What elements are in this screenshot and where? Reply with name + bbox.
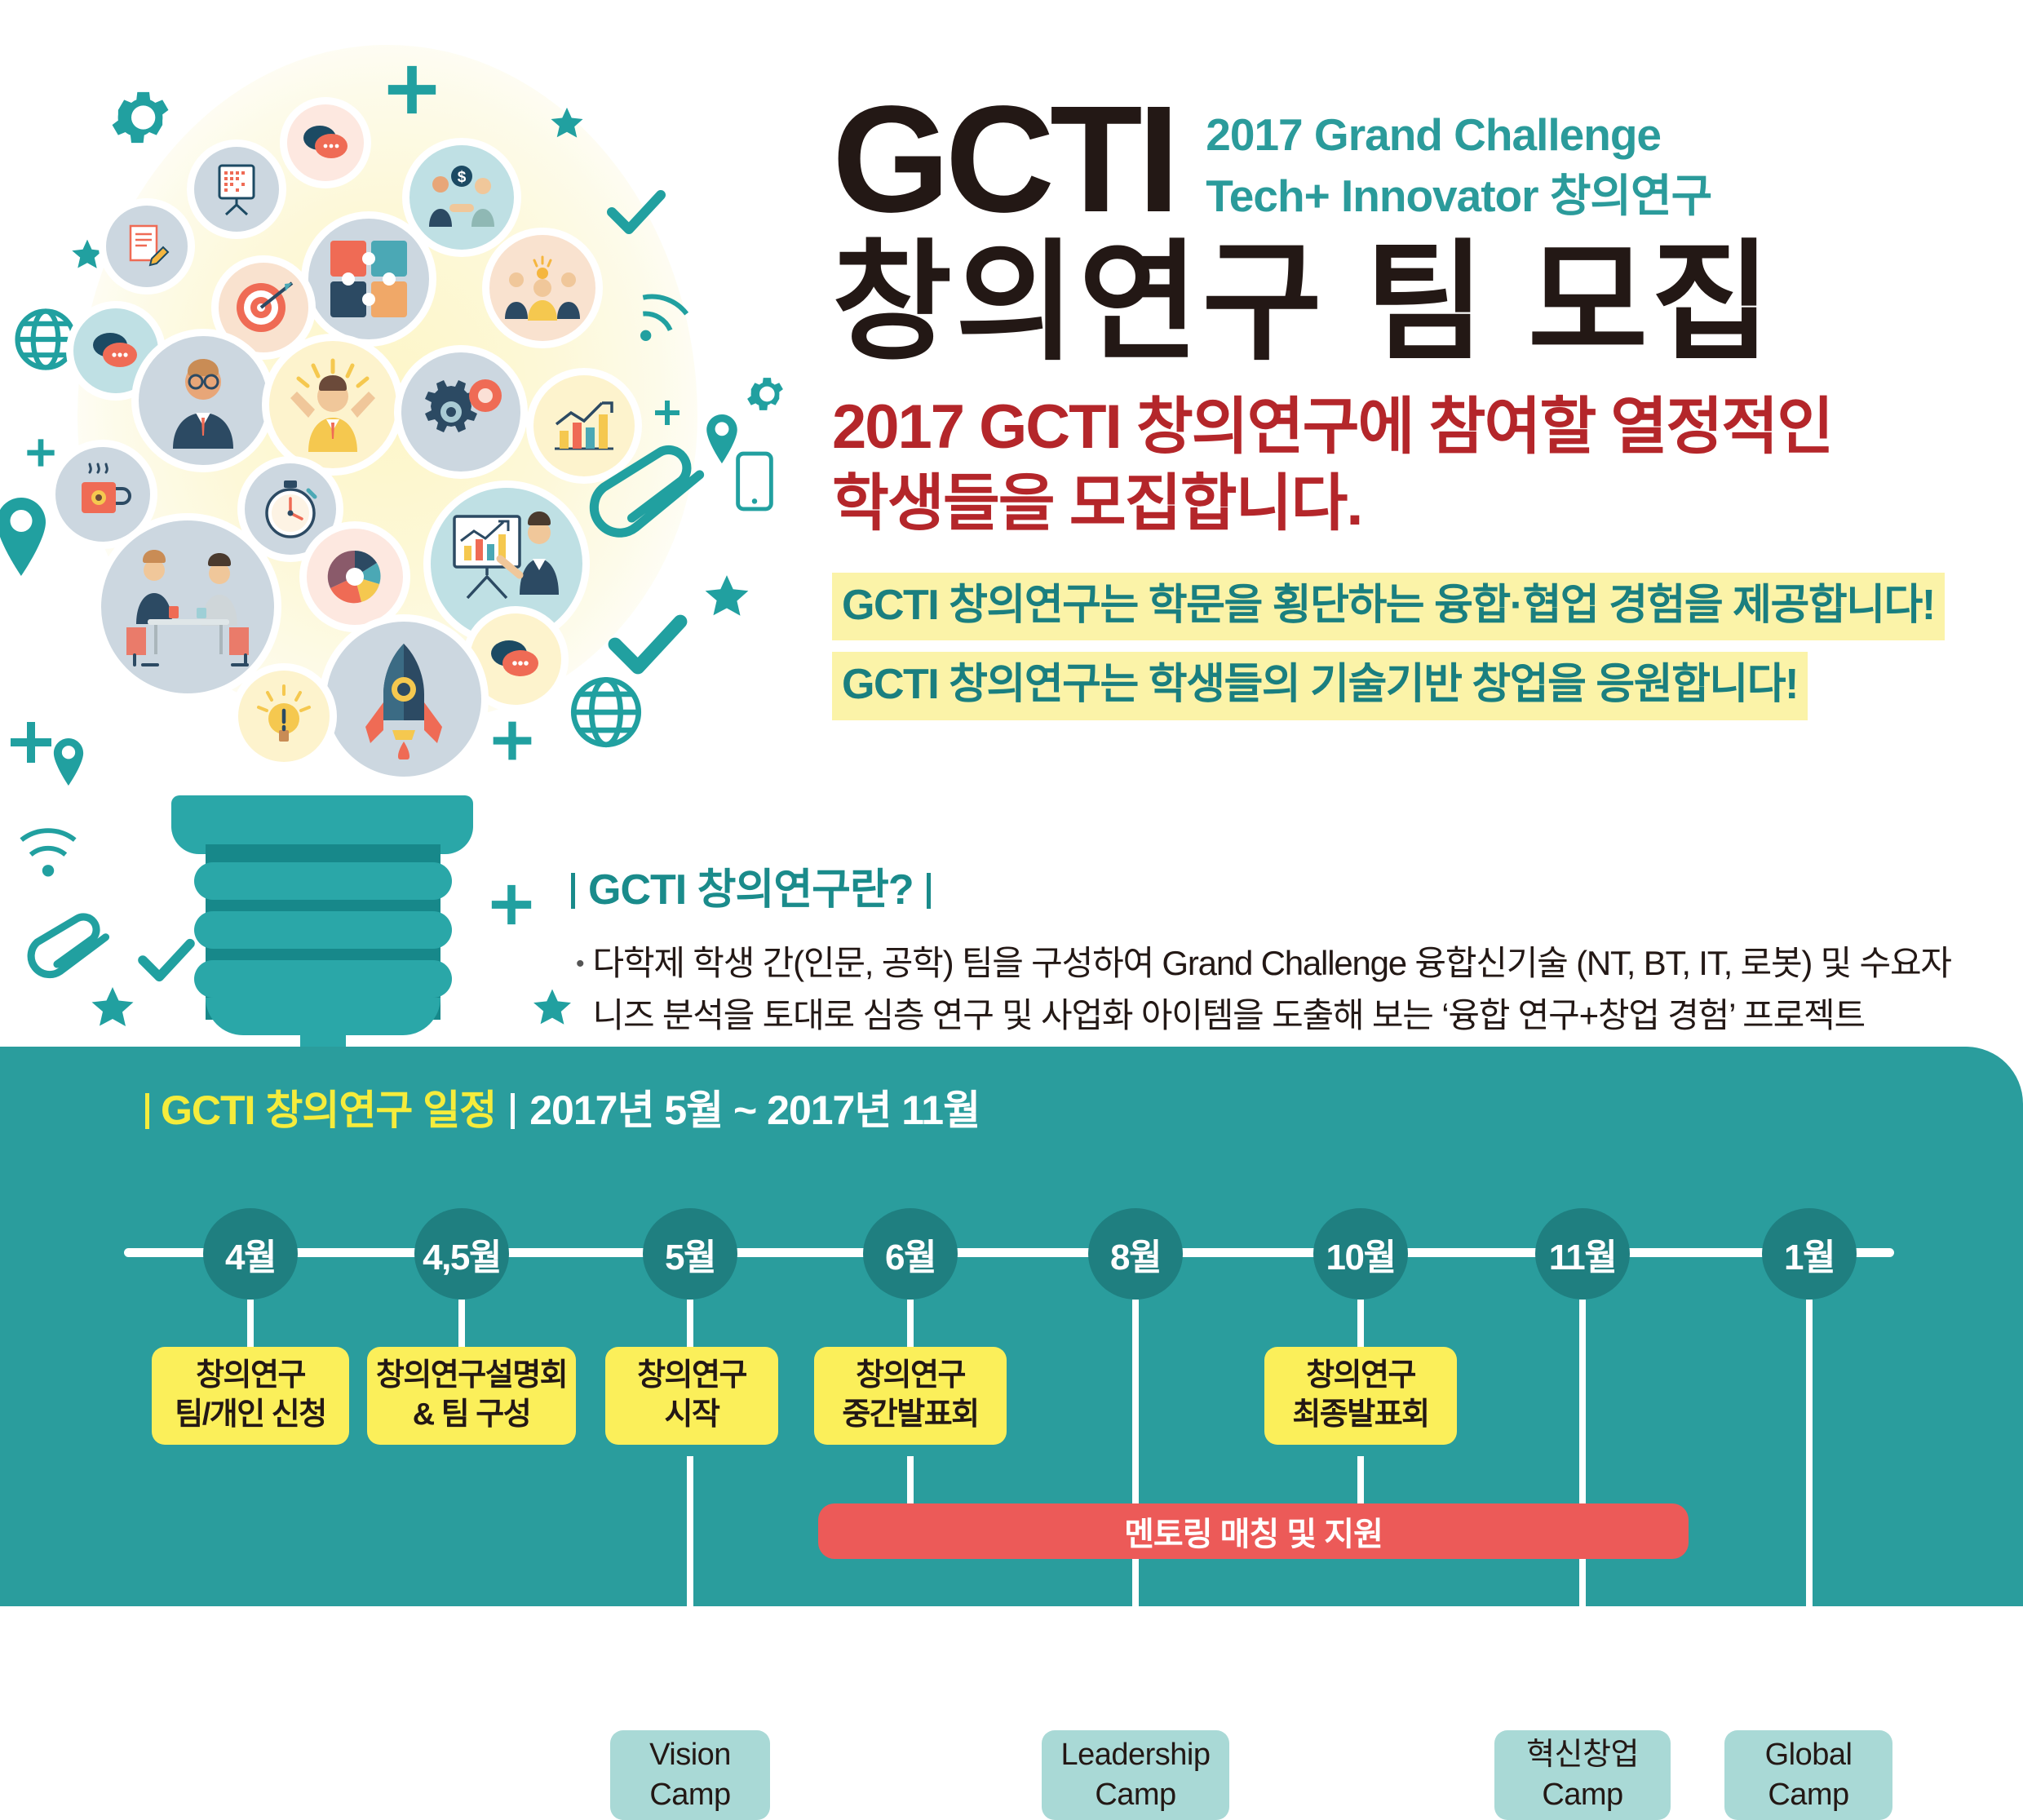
- header-block: GCTI 2017 Grand Challenge Tech+ Innovato…: [832, 90, 2007, 732]
- schedule-section: GCTI 창의연구 일정2017년 5월 ~ 2017년 11월 4월 4,5월…: [0, 1047, 2023, 1606]
- timeline-node-7[interactable]: 11월: [1535, 1208, 1630, 1300]
- event-line-1: 창의연구설명회: [376, 1357, 567, 1396]
- wifi-icon: [632, 286, 697, 348]
- plus-icon: [488, 881, 535, 928]
- timeline-node-6[interactable]: 10월: [1313, 1208, 1408, 1300]
- camp-line-1: Leadership: [1060, 1735, 1210, 1775]
- timeline-node-label: 4,5월: [423, 1228, 501, 1280]
- star-icon: [702, 571, 752, 622]
- event-line-1: 창의연구: [1306, 1357, 1415, 1396]
- camp-box-innovation[interactable]: 혁신창업 Camp: [1494, 1730, 1671, 1820]
- bubble-success-person-icon: [269, 341, 396, 468]
- eyebrow-line-1: 2017 Grand Challenge: [1206, 104, 1711, 166]
- connector-node-6: [1357, 1300, 1364, 1350]
- subtitle-line-2: 학생들을 모집합니다.: [832, 466, 2007, 542]
- timeline-node-label: 11월: [1549, 1228, 1617, 1280]
- event-box-3[interactable]: 창의연구 시작: [605, 1347, 778, 1445]
- lightbulb-base: [155, 795, 489, 1052]
- eyebrow-line-2: Tech+ Innovator 창의연구: [1206, 166, 1711, 227]
- star-icon: [88, 983, 137, 1032]
- about-block: GCTI 창의연구란? • 다학제 학생 간(인문, 공학) 팀을 구성하여 G…: [571, 855, 2007, 1042]
- bubble-gears-icon: [401, 352, 520, 472]
- svg-text:$: $: [458, 169, 467, 186]
- highlight-text-1: GCTI 창의연구는 학문을 횡단하는 융합·협업 경험을 제공합니다!: [832, 573, 1945, 641]
- check-icon: [605, 188, 667, 237]
- timeline-node-5[interactable]: 8월: [1088, 1208, 1183, 1300]
- mentoring-label: 멘토링 매칭 및 지원: [1124, 1508, 1383, 1555]
- timeline-node-label: 8월: [1110, 1228, 1161, 1280]
- timeline-node-3[interactable]: 5월: [643, 1208, 737, 1300]
- connector-node-2: [458, 1300, 465, 1350]
- connector-global-camp: [1806, 1300, 1813, 1734]
- bubble-chat-dots-icon: [470, 613, 561, 705]
- bubble-presentation-board-icon: [194, 147, 279, 232]
- bulb-ring: [194, 862, 452, 900]
- bubble-growth-chart-icon: [533, 375, 635, 476]
- camp-line-2: Camp: [649, 1775, 730, 1815]
- map-pin-icon: [51, 738, 86, 786]
- event-box-2[interactable]: 창의연구설명회 & 팀 구성: [367, 1347, 576, 1445]
- camp-line-2: Camp: [1095, 1775, 1175, 1815]
- subtitle-line-1: 2017 GCTI 창의연구에 참여할 열정적인: [832, 389, 2007, 466]
- about-line-2: 니즈 분석을 토대로 심층 연구 및 사업화 아이템을 도출해 보는 ‘융합 연…: [593, 990, 1951, 1042]
- camp-line-1: Global: [1765, 1735, 1853, 1775]
- check-icon: [604, 612, 692, 677]
- eyebrow-text: 2017 Grand Challenge Tech+ Innovator 창의연…: [1206, 104, 1711, 227]
- about-heading: GCTI 창의연구란?: [571, 855, 931, 916]
- highlight-line-2: GCTI 창의연구는 학생들의 기술기반 창업을 응원합니다!: [832, 652, 2007, 720]
- event-box-4[interactable]: 창의연구 중간발표회: [814, 1347, 1007, 1445]
- bubble-pie-chart-icon: [307, 529, 403, 625]
- bubble-coffee-icon: [55, 447, 150, 542]
- bubble-rocket-icon: [326, 622, 481, 777]
- wifi-icon: [15, 824, 82, 883]
- bubble-target-icon: [219, 263, 308, 352]
- timeline-node-2[interactable]: 4,5월: [414, 1208, 509, 1300]
- paperclip-icon: [23, 912, 114, 982]
- accent-bar-mid: [511, 1093, 515, 1129]
- bubble-businessman-icon: [139, 336, 268, 465]
- bulb-ring: [194, 911, 452, 949]
- highlight-block: GCTI 창의연구는 학문을 횡단하는 융합·협업 경험을 제공합니다! GCT…: [832, 573, 2007, 721]
- event-box-5[interactable]: 창의연구 최종발표회: [1264, 1347, 1457, 1445]
- timeline-node-label: 10월: [1326, 1228, 1396, 1280]
- bubble-document-pencil-icon: [106, 206, 188, 287]
- timeline-node-label: 5월: [665, 1228, 715, 1280]
- about-line-1: 다학제 학생 간(인문, 공학) 팀을 구성하여 Grand Challenge…: [593, 937, 1951, 990]
- event-line-2: 팀/개인 신청: [175, 1396, 325, 1435]
- connector-mentor-left: [907, 1456, 914, 1507]
- plus-icon: [24, 436, 57, 469]
- schedule-title: GCTI 창의연구 일정: [161, 1087, 496, 1133]
- event-line-2: 시작: [665, 1396, 719, 1435]
- about-paragraph: 다학제 학생 간(인문, 공학) 팀을 구성하여 Grand Challenge…: [593, 937, 1951, 1042]
- event-line-1: 창의연구: [637, 1357, 746, 1396]
- event-line-1: 창의연구: [196, 1357, 305, 1396]
- camp-line-2: Camp: [1768, 1775, 1848, 1815]
- connector-vision-camp: [687, 1456, 693, 1734]
- brand-row: GCTI 2017 Grand Challenge Tech+ Innovato…: [832, 90, 2007, 229]
- timeline-node-label: 4월: [225, 1228, 276, 1280]
- smartphone-icon: [734, 450, 775, 512]
- bubble-meeting-table-icon: [101, 520, 274, 693]
- bubble-handshake-deal-icon: $: [409, 145, 514, 250]
- highlight-line-1: GCTI 창의연구는 학문을 횡단하는 융합·협업 경험을 제공합니다!: [832, 573, 2007, 641]
- plus-icon: [383, 61, 440, 118]
- bulb-ring: [194, 960, 452, 998]
- accent-bar-left: [145, 1093, 149, 1129]
- camp-line-2: Camp: [1542, 1775, 1622, 1815]
- star-icon: [69, 237, 105, 272]
- gear-icon: [104, 82, 176, 153]
- bullet-icon: •: [576, 950, 585, 1042]
- highlight-text-2: GCTI 창의연구는 학생들의 기술기반 창업을 응원합니다!: [832, 652, 1808, 720]
- event-line-2: & 팀 구성: [413, 1396, 530, 1435]
- bubble-lightbulb-alert-icon: [238, 671, 330, 762]
- timeline-node-label: 1월: [1784, 1228, 1835, 1280]
- bubble-puzzle-icon: [308, 219, 429, 339]
- timeline-node-label: 6월: [885, 1228, 936, 1280]
- star-icon: [548, 104, 586, 142]
- gear-icon: [742, 371, 788, 417]
- star-icon: [530, 985, 574, 1030]
- camp-box-global[interactable]: Global Camp: [1724, 1730, 1892, 1820]
- camp-box-vision[interactable]: Vision Camp: [610, 1730, 770, 1820]
- timeline: 4월 4,5월 5월 6월 8월 10월 11월 1월 창의연구 팀/개인 신청…: [0, 1145, 2023, 1601]
- subtitle: 2017 GCTI 창의연구에 참여할 열정적인 학생들을 모집합니다.: [832, 389, 2007, 542]
- connector-node-1: [247, 1300, 254, 1350]
- poster-top-section: $: [0, 0, 2023, 1052]
- brand-title: GCTI: [832, 90, 1175, 229]
- mentoring-bar[interactable]: 멘토링 매칭 및 지원: [818, 1503, 1689, 1559]
- plus-icon: [7, 718, 55, 767]
- page-title: 창의연구 팀 모집: [832, 237, 2007, 368]
- event-line-2: 중간발표회: [842, 1396, 978, 1435]
- timeline-node-4[interactable]: 6월: [863, 1208, 958, 1300]
- connector-node-3: [687, 1300, 693, 1350]
- connector-mentor-mid: [1357, 1456, 1364, 1507]
- camp-box-leadership[interactable]: Leadership Camp: [1042, 1730, 1229, 1820]
- bubble-chat-icon: [287, 104, 364, 181]
- schedule-heading: GCTI 창의연구 일정2017년 5월 ~ 2017년 11월: [145, 1078, 980, 1136]
- globe-icon: [8, 302, 83, 377]
- event-box-1[interactable]: 창의연구 팀/개인 신청: [152, 1347, 349, 1445]
- schedule-range: 2017년 5월 ~ 2017년 11월: [529, 1087, 980, 1133]
- event-line-2: 최종발표회: [1292, 1396, 1428, 1435]
- map-pin-icon: [0, 498, 51, 576]
- about-body: • 다학제 학생 간(인문, 공학) 팀을 구성하여 Grand Challen…: [571, 937, 2007, 1042]
- plus-icon: [653, 398, 682, 427]
- event-line-1: 창의연구: [856, 1357, 965, 1396]
- plus-icon: [489, 718, 535, 764]
- bubble-team-idea-icon: [489, 235, 595, 341]
- timeline-node-1[interactable]: 4월: [203, 1208, 298, 1300]
- timeline-node-8[interactable]: 1월: [1762, 1208, 1857, 1300]
- camp-line-1: Vision: [649, 1735, 731, 1775]
- camp-line-1: 혁신창업: [1526, 1735, 1639, 1775]
- globe-icon: [563, 669, 649, 755]
- connector-node-4: [907, 1300, 914, 1350]
